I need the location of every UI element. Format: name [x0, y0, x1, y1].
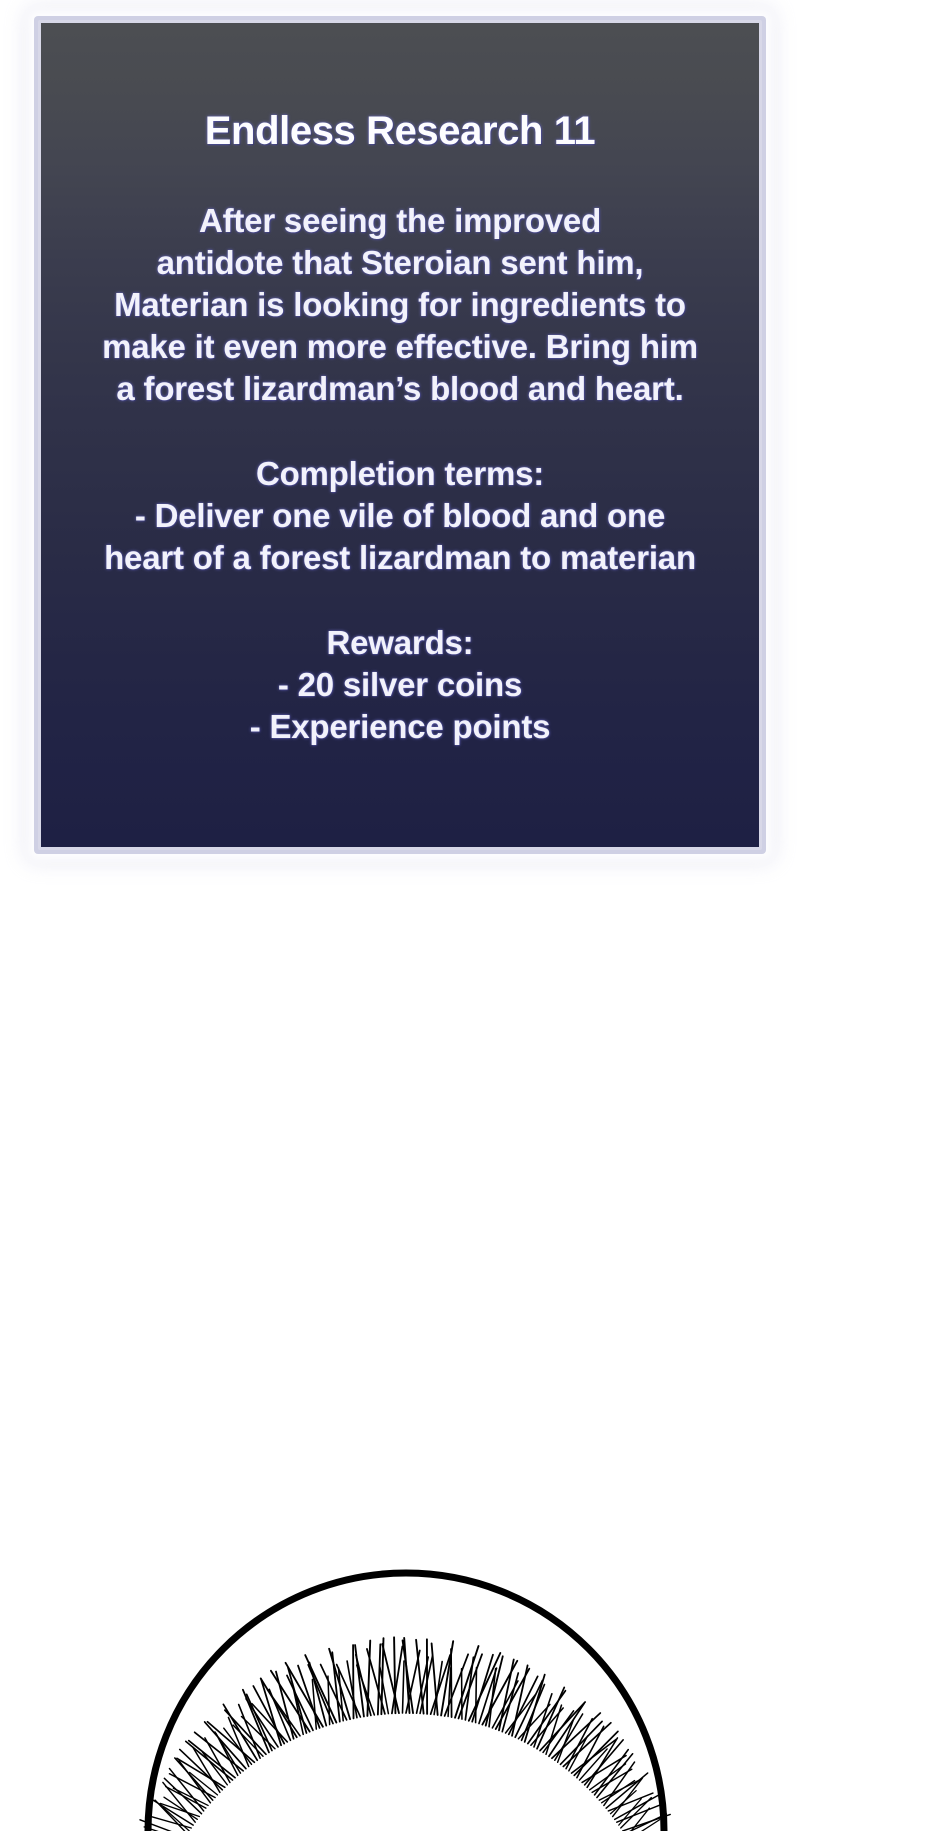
- quest-description: After seeing the improved antidote that …: [53, 153, 747, 410]
- quest-description-line: Materian is looking for ingredients to: [53, 284, 747, 326]
- quest-rewards-heading: Rewards:: [53, 622, 747, 664]
- quest-rewards-line: - Experience points: [53, 706, 747, 748]
- quest-completion-heading: Completion terms:: [53, 453, 747, 495]
- quest-description-line: antidote that Steroian sent him,: [53, 242, 747, 284]
- quest-completion-line: heart of a forest lizardman to materian: [53, 537, 747, 579]
- quest-rewards-line: - 20 silver coins: [53, 664, 747, 706]
- quest-description-line: After seeing the improved: [53, 200, 747, 242]
- quest-description-line: make it even more effective. Bring him: [53, 326, 747, 368]
- radiating-spiked-arc-icon: [0, 1400, 940, 1831]
- quest-title: Endless Research 11: [53, 23, 747, 153]
- quest-panel-border: Endless Research 11 After seeing the imp…: [38, 20, 762, 850]
- quest-panel-container: Endless Research 11 After seeing the imp…: [34, 16, 766, 854]
- quest-rewards: Rewards: - 20 silver coins - Experience …: [53, 579, 747, 748]
- quest-panel: Endless Research 11 After seeing the imp…: [41, 23, 759, 847]
- quest-completion-terms: Completion terms: - Deliver one vile of …: [53, 410, 747, 579]
- quest-description-line: a forest lizardman’s blood and heart.: [53, 368, 747, 410]
- quest-content: Endless Research 11 After seeing the imp…: [41, 23, 759, 748]
- quest-completion-line: - Deliver one vile of blood and one: [53, 495, 747, 537]
